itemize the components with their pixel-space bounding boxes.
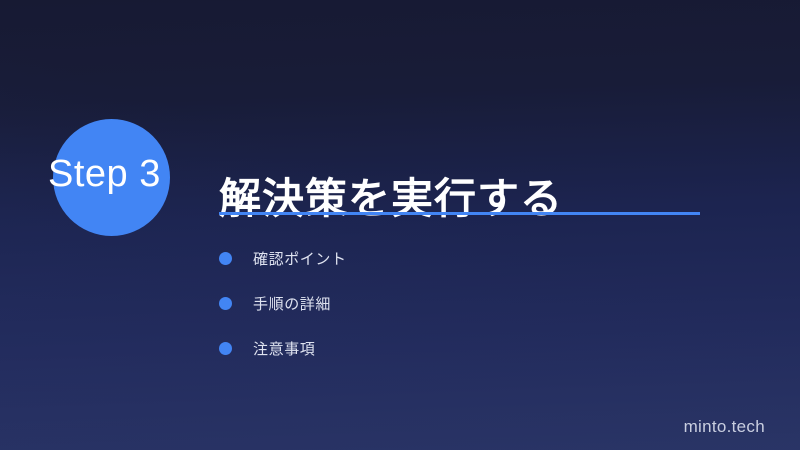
list-item: 確認ポイント [219,236,347,281]
list-item: 注意事項 [219,326,347,371]
bullet-dot-icon [219,297,232,310]
slide-title: 解決策を実行する [219,173,563,225]
bullet-item-label: 手順の詳細 [253,293,331,314]
footer-watermark: minto.tech [684,417,765,437]
step-badge-label: Step 3 [48,152,228,196]
bullet-list: 確認ポイント 手順の詳細 注意事項 [219,236,347,371]
title-divider [219,212,700,215]
slide-canvas: Step 3 解決策を実行する 確認ポイント 手順の詳細 注意事項 minto.… [0,0,800,450]
bullet-dot-icon [219,252,232,265]
bullet-item-label: 注意事項 [253,338,315,359]
bullet-item-label: 確認ポイント [253,248,347,269]
bullet-dot-icon [219,342,232,355]
list-item: 手順の詳細 [219,281,347,326]
